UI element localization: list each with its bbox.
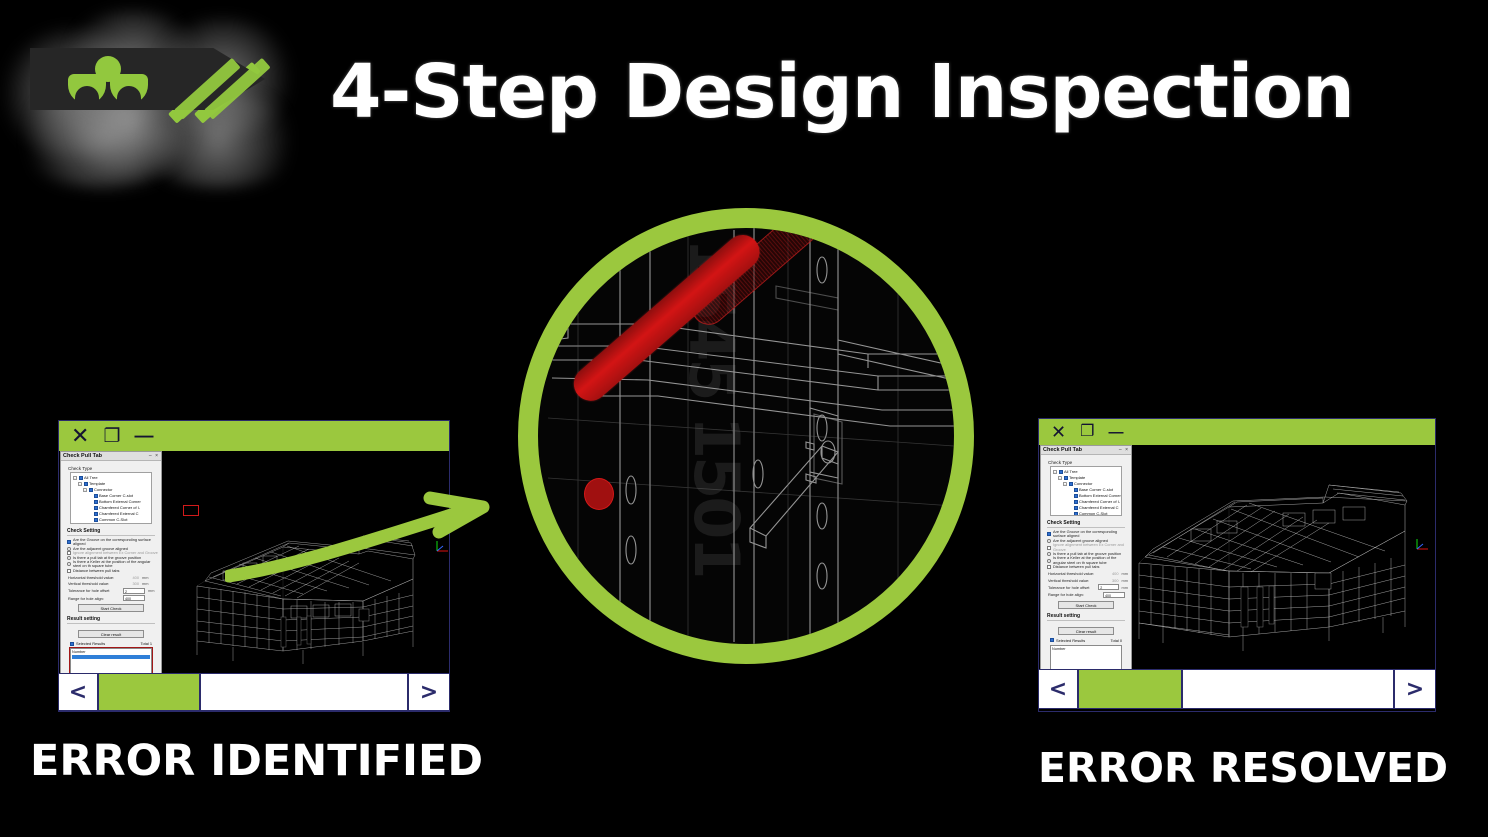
check-setting-option[interactable]: Distance between pull tabs	[67, 569, 158, 573]
tree-node-checkbox[interactable]	[1074, 488, 1078, 492]
field-unit: mm	[142, 581, 148, 586]
selected-results-label: Selected Results	[1056, 638, 1085, 643]
field-unit: mm	[142, 575, 148, 580]
tree-node-checkbox[interactable]	[1074, 506, 1078, 510]
slide-canvas: 4-Step Design Inspection ✕ ❐ — Use Tab k…	[0, 0, 1488, 837]
check-setting-option[interactable]: Distance between pull tabs	[1047, 565, 1128, 569]
field-input[interactable]: 2	[123, 588, 145, 594]
pointer-arrow	[225, 480, 525, 600]
progress-filled[interactable]	[1078, 669, 1182, 709]
tree-node-checkbox[interactable]	[89, 488, 93, 492]
progress-filled[interactable]	[98, 673, 200, 711]
tree-node-checkbox[interactable]	[94, 518, 98, 522]
setting-field-row[interactable]: Range for hole align:400	[68, 595, 158, 601]
setting-field-row[interactable]: Vertical threshold value:300mm	[1048, 578, 1128, 583]
field-unit: mm	[1122, 585, 1128, 590]
tree-node-checkbox[interactable]	[1059, 470, 1063, 474]
right-app-window: ✕ ❐ — Use Tab key to toggle between semi…	[1038, 418, 1436, 712]
restore-icon[interactable]: ❐	[103, 427, 120, 446]
divider	[1047, 620, 1125, 621]
dialog-window-buttons[interactable]: – ×	[149, 453, 159, 459]
page-title: 4-Step Design Inspection	[330, 42, 1330, 142]
field-label: Range for hole align:	[68, 596, 120, 601]
field-label: Vertical threshold value:	[1048, 578, 1100, 583]
start-check-button[interactable]: Start Check	[78, 604, 144, 612]
result-list-row-selected[interactable]	[72, 655, 150, 659]
option-checkbox[interactable]	[67, 551, 71, 555]
result-list-header: Number	[1052, 647, 1120, 651]
field-input[interactable]: 2	[1098, 584, 1118, 590]
right-cad-viewport[interactable]	[1133, 445, 1435, 677]
field-unit: mm	[148, 588, 154, 593]
selected-results-label: Selected Results	[76, 641, 105, 646]
result-setting-label: Result setting	[67, 616, 158, 622]
result-total-label: Total 0	[1111, 638, 1122, 643]
divider	[67, 623, 155, 624]
setting-field-row[interactable]: Range for hole align:400	[1048, 592, 1128, 598]
field-input[interactable]: 400	[1103, 592, 1125, 598]
prev-button[interactable]: <	[58, 673, 98, 711]
setting-field-row[interactable]: Tolerance for hole offset2mm	[1048, 584, 1128, 590]
dialog-window-buttons[interactable]: – ×	[1119, 447, 1129, 453]
left-check-pull-tab-dialog[interactable]: Check Pull Tab – × Check Type -All Tree-…	[60, 451, 162, 691]
field-unit: mm	[1122, 571, 1128, 576]
tree-expander-icon[interactable]: -	[83, 488, 87, 492]
tree-expander-icon[interactable]: -	[1053, 470, 1057, 474]
tree-node[interactable]: Common C-Slot	[1053, 511, 1119, 516]
field-value-disabled: 400	[123, 575, 139, 580]
dialog-title: Check Pull Tab	[63, 453, 102, 459]
field-value-disabled: 300	[1103, 578, 1119, 583]
option-radio[interactable]	[67, 547, 71, 551]
tree-node-label: Diagonal External Corn	[99, 523, 140, 524]
option-checkbox[interactable]	[1047, 546, 1051, 550]
close-icon[interactable]: ✕	[1051, 423, 1066, 441]
option-checkbox[interactable]	[1047, 532, 1051, 536]
option-label: Distance between pull tabs	[73, 569, 120, 573]
tree-node-checkbox[interactable]	[94, 506, 98, 510]
prev-button[interactable]: <	[1038, 669, 1078, 709]
field-input[interactable]: 400	[123, 595, 145, 601]
tree-node-checkbox[interactable]	[1074, 500, 1078, 504]
check-setting-fields[interactable]: Horizontal threshold value:400mmVertical…	[64, 575, 158, 602]
tree-node-checkbox[interactable]	[94, 500, 98, 504]
option-checkbox[interactable]	[67, 540, 71, 544]
field-label: Horizontal threshold value:	[1048, 571, 1100, 576]
field-label: Tolerance for hole offset	[1048, 585, 1095, 590]
check-setting-options[interactable]: Are the Groove on the corresponding surf…	[1044, 530, 1128, 570]
dialog-titlebar: Check Pull Tab – ×	[1041, 446, 1131, 455]
check-type-label: Check Type	[1048, 460, 1128, 465]
start-check-button[interactable]: Start Check	[1058, 601, 1114, 609]
field-unit: mm	[1122, 578, 1128, 583]
magnifier-content: 1545 1501	[538, 228, 954, 644]
check-setting-label: Check Setting	[67, 528, 158, 534]
setting-field-row[interactable]: Vertical threshold value:300mm	[68, 581, 158, 586]
dialog-titlebar: Check Pull Tab – ×	[61, 452, 161, 461]
tree-expander-icon[interactable]: -	[1063, 482, 1067, 486]
right-bottom-nav: < >	[1038, 669, 1436, 709]
left-window-titlebar: ✕ ❐ —	[59, 421, 449, 451]
selected-results-checkbox[interactable]	[1050, 638, 1054, 642]
minimize-icon[interactable]: —	[1108, 425, 1122, 440]
check-type-tree[interactable]: -All Tree-Template-ConnectorBase Corner …	[70, 472, 152, 524]
tree-node-checkbox[interactable]	[79, 476, 83, 480]
tree-node-checkbox[interactable]	[94, 512, 98, 516]
setting-field-row[interactable]: Horizontal threshold value:400mm	[1048, 571, 1128, 576]
progress-remaining[interactable]	[1182, 669, 1394, 709]
field-value-disabled: 400	[1103, 571, 1119, 576]
tree-node-checkbox[interactable]	[1069, 482, 1073, 486]
result-total-label: Total 1	[141, 641, 152, 646]
option-radio[interactable]	[67, 562, 71, 566]
setting-field-row[interactable]: Tolerance for hole offset2mm	[68, 588, 158, 594]
error-highlight-box	[183, 505, 199, 516]
tree-expander-icon[interactable]: -	[1058, 476, 1062, 480]
close-icon[interactable]: ✕	[71, 425, 89, 447]
progress-remaining[interactable]	[200, 673, 408, 711]
minimize-icon[interactable]: —	[134, 427, 152, 446]
option-checkbox[interactable]	[1047, 565, 1051, 569]
tree-node-checkbox[interactable]	[84, 482, 88, 486]
tree-node-checkbox[interactable]	[1074, 494, 1078, 498]
next-button[interactable]: >	[1394, 669, 1436, 709]
right-building-wireframe	[1133, 445, 1435, 677]
tree-node[interactable]: Diagonal External Corn	[73, 523, 149, 524]
check-type-label: Check Type	[68, 466, 158, 471]
field-label: Range for hole align:	[1048, 592, 1100, 597]
left-bottom-nav: < >	[58, 673, 450, 711]
tree-node-checkbox[interactable]	[94, 494, 98, 498]
result-setting-label: Result setting	[1047, 613, 1128, 619]
check-setting-options[interactable]: Are the Groove on the corresponding surf…	[64, 538, 158, 573]
axis-indicator-icon	[1415, 537, 1429, 551]
right-check-pull-tab-dialog[interactable]: Check Pull Tab – × Check Type -All Tree-…	[1040, 445, 1132, 687]
field-value-disabled: 300	[123, 581, 139, 586]
clear-result-button[interactable]: Clear result	[1058, 627, 1114, 635]
check-setting-fields[interactable]: Horizontal threshold value:400mmVertical…	[1044, 571, 1128, 598]
tree-expander-icon[interactable]: -	[73, 476, 77, 480]
option-radio[interactable]	[1047, 559, 1051, 563]
field-label: Tolerance for hole offset	[68, 588, 120, 593]
option-radio[interactable]	[67, 556, 71, 560]
field-label: Vertical threshold value:	[68, 581, 120, 586]
tree-expander-icon[interactable]: -	[78, 482, 82, 486]
restore-icon[interactable]: ❐	[1080, 424, 1094, 440]
company-logo	[8, 18, 308, 168]
field-label: Horizontal threshold value:	[68, 575, 120, 580]
divider	[1047, 527, 1125, 528]
setting-field-row[interactable]: Horizontal threshold value:400mm	[68, 575, 158, 580]
divider	[67, 535, 155, 536]
next-button[interactable]: >	[408, 673, 450, 711]
option-label: Distance between pull tabs	[1053, 565, 1100, 569]
right-window-titlebar: ✕ ❐ —	[1039, 419, 1435, 445]
option-checkbox[interactable]	[67, 569, 71, 573]
person-icon	[68, 56, 148, 104]
magnified-detail-circle: 1545 1501	[518, 208, 974, 664]
left-caption: ERROR IDENTIFIED	[30, 736, 483, 786]
tree-node-checkbox[interactable]	[1074, 512, 1078, 516]
clear-result-button[interactable]: Clear result	[78, 630, 144, 638]
result-list-header: Number	[72, 650, 150, 654]
check-setting-label: Check Setting	[1047, 520, 1128, 526]
tree-node-checkbox[interactable]	[1064, 476, 1068, 480]
selected-results-checkbox[interactable]	[70, 642, 74, 646]
dialog-title: Check Pull Tab	[1043, 447, 1082, 453]
check-type-tree[interactable]: -All Tree-Template-ConnectorBase Corner …	[1050, 466, 1122, 516]
pull-tab-rod-end-cap	[584, 478, 614, 510]
option-radio[interactable]	[1047, 539, 1051, 543]
right-caption: ERROR RESOLVED	[1038, 744, 1448, 792]
tree-node-label: Common C-Slot	[1079, 511, 1107, 516]
